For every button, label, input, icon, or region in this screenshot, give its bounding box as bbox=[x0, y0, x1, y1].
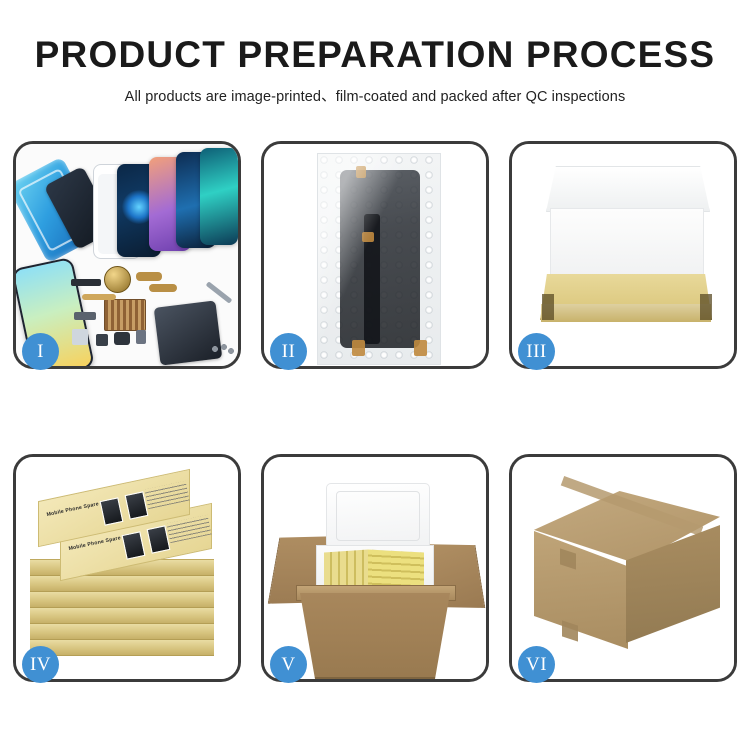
flex-cable-2-icon bbox=[149, 284, 177, 292]
connector-tab-1-icon bbox=[356, 166, 366, 178]
battery-connector-icon bbox=[114, 332, 130, 345]
box-edge-4 bbox=[30, 607, 214, 624]
button-part-icon bbox=[136, 330, 146, 344]
connector-tab-2-icon bbox=[362, 232, 374, 242]
kraft-tray-front-icon bbox=[541, 304, 711, 322]
connector-tab-3-icon bbox=[352, 340, 365, 356]
page-subtitle: All products are image-printed、film-coat… bbox=[0, 85, 750, 106]
box-edge-3 bbox=[30, 591, 214, 608]
sim-tray-icon bbox=[72, 329, 88, 345]
connector-tab-4-icon bbox=[414, 340, 427, 356]
flex-cable-icon bbox=[136, 272, 162, 281]
carton-body-icon bbox=[300, 593, 450, 679]
stacked-retail-boxes-image: Mobile Phone Spare Parts Mobile Phone Sp… bbox=[16, 457, 238, 679]
vibration-motor-icon bbox=[104, 266, 131, 293]
page-header: PRODUCT PREPARATION PROCESS All products… bbox=[0, 36, 750, 106]
process-step-panel-3: III bbox=[509, 141, 737, 369]
process-step-panel-5: V bbox=[261, 454, 489, 682]
lcd-screen-icon bbox=[340, 170, 420, 348]
bubble-wrapped-screen-image bbox=[264, 144, 486, 366]
box-edge-2 bbox=[30, 575, 214, 592]
product-preparation-page: PRODUCT PREPARATION PROCESS All products… bbox=[0, 0, 750, 750]
phone-back-housing-icon bbox=[154, 300, 223, 365]
open-kraft-box-image bbox=[512, 144, 734, 366]
process-step-grid: I II bbox=[13, 141, 737, 682]
tray-end-left-icon bbox=[542, 294, 554, 320]
step-badge-5: V bbox=[270, 646, 307, 683]
sealed-shipping-carton-image bbox=[512, 457, 734, 679]
box-edge-5 bbox=[30, 623, 214, 640]
flex-cable-3-icon bbox=[82, 294, 116, 300]
step-badge-6: VI bbox=[518, 646, 555, 683]
speaker-part-icon bbox=[71, 279, 101, 286]
step-badge-1: I bbox=[22, 333, 59, 370]
box-lid-icon bbox=[546, 166, 710, 212]
process-step-panel-1: I bbox=[13, 141, 241, 369]
tray-end-right-icon bbox=[700, 294, 712, 320]
page-title: PRODUCT PREPARATION PROCESS bbox=[0, 36, 750, 75]
carton-with-foam-box-image bbox=[264, 457, 486, 679]
step-badge-4: IV bbox=[22, 646, 59, 683]
foam-sheet-icon bbox=[550, 208, 704, 282]
phone-display-teal-icon bbox=[200, 148, 238, 245]
box-edge-6 bbox=[30, 639, 214, 656]
bubble-wrap-bag-icon bbox=[317, 153, 441, 365]
foam-box-lid-icon bbox=[326, 483, 430, 549]
process-step-panel-2: II bbox=[261, 141, 489, 369]
process-step-panel-6: VI bbox=[509, 454, 737, 682]
process-step-panel-4: Mobile Phone Spare Parts Mobile Phone Sp… bbox=[13, 454, 241, 682]
product-parts-collage-image bbox=[16, 144, 238, 366]
screws-icon bbox=[212, 344, 234, 354]
connector-chip-grid-icon bbox=[104, 299, 146, 331]
step-badge-3: III bbox=[518, 333, 555, 370]
camera-module-icon bbox=[96, 334, 108, 346]
step-badge-2: II bbox=[270, 333, 307, 370]
small-part-icon bbox=[74, 312, 96, 320]
